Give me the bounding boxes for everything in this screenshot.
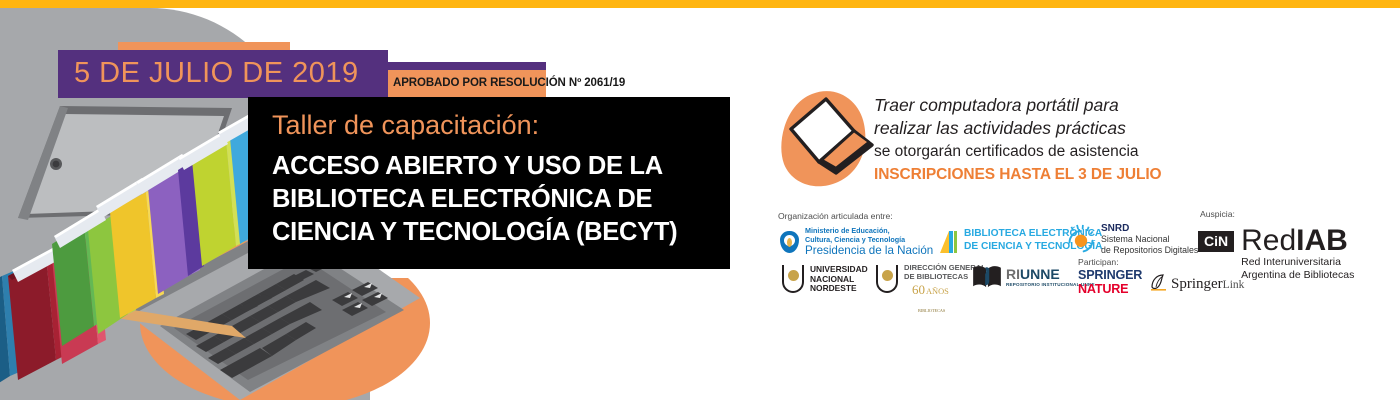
logo-springer-link: SpringerLink xyxy=(1150,274,1244,293)
snrd-line-1: Sistema Nacional xyxy=(1101,234,1198,245)
logo-unne: UNIVERSIDAD NACIONAL NORDESTE xyxy=(782,265,868,294)
laptop-icon xyxy=(776,88,882,196)
rediab-wordmark: RedIAB xyxy=(1241,225,1354,256)
snrd-mark-icon xyxy=(1066,224,1096,254)
title-line-3: CIENCIA Y TECNOLOGÍA (BECYT) xyxy=(272,216,722,249)
attendance-note-text: Traer computadora portátil para realizar… xyxy=(874,94,1194,187)
rediab-red: Red xyxy=(1241,224,1296,257)
argentina-shield-icon xyxy=(780,231,799,253)
snrd-acronym: SNRD xyxy=(1101,223,1198,234)
dgb-anniversary-word: AÑOS xyxy=(926,285,949,299)
right-content-column: Traer computadora portátil para realizar… xyxy=(772,0,1400,400)
title-kicker: Taller de capacitación: xyxy=(272,110,539,141)
unne-mark-icon xyxy=(782,265,804,293)
logo-rediab: CiN RedIAB Red Interuniversitaria Argent… xyxy=(1198,225,1354,281)
rediab-line-1: Red Interuniversitaria xyxy=(1241,256,1354,269)
rediab-iab: IAB xyxy=(1296,224,1348,257)
snrd-line-2: de Repositorios Digitales xyxy=(1101,245,1198,256)
note-line-3: se otorgarán certificados de asistencia xyxy=(874,140,1194,163)
title-line-2: BIBLIOTECA ELECTRÓNICA DE xyxy=(272,183,722,216)
cin-mark: CiN xyxy=(1198,231,1234,252)
logo-ministerio-educacion: Ministerio de Educación, Cultura, Cienci… xyxy=(780,227,933,257)
caption-auspicia: Auspicia: xyxy=(1200,209,1235,219)
logo-direccion-bibliotecas: DIRECCIÓN GENERAL DE BIBLIOTECAS 60 AÑOS… xyxy=(876,263,986,318)
riunne-unne: UNNE xyxy=(1020,266,1060,282)
dgb-mark-icon xyxy=(876,265,898,293)
resolution-badge-text: APROBADO POR RESOLUCIÓN Nº 2061/19 xyxy=(393,77,625,89)
page-title: ACCESO ABIERTO Y USO DE LA BIBLIOTECA EL… xyxy=(272,150,722,249)
attendance-note: Traer computadora portátil para realizar… xyxy=(772,88,1192,198)
springerlink-mark-icon xyxy=(1150,274,1167,293)
registration-deadline: INSCRIPCIONES HASTA EL 3 DE JULIO xyxy=(874,163,1194,187)
riunne-book-icon xyxy=(972,265,1002,289)
ministerio-line-2: Cultura, Ciencia y Tecnología xyxy=(805,236,933,245)
title-line-1: ACCESO ABIERTO Y USO DE LA xyxy=(272,150,722,183)
logo-riunne: RIUNNE REPOSITORIO INSTITUCIONAL UNNE xyxy=(972,265,1095,289)
ministerio-line-3: Presidencia de la Nación xyxy=(805,244,933,257)
riunne-ri: RI xyxy=(1006,266,1020,282)
unne-line-3: NORDESTE xyxy=(810,284,868,294)
caption-participan: Participan: xyxy=(1078,257,1119,267)
dgb-anniversary-sub: BIBLIOTECAS xyxy=(918,308,945,313)
logo-springer-nature: SPRINGER NATURE xyxy=(1078,269,1142,296)
springer-line-1: SPRINGER xyxy=(1078,269,1142,283)
note-line-1: Traer computadora portátil para xyxy=(874,94,1194,117)
caption-organizacion: Organización articulada entre: xyxy=(778,211,893,221)
springerlink-main: Springer xyxy=(1171,276,1223,292)
sponsor-logos: Organización articulada entre: Ministeri… xyxy=(772,205,1400,325)
springer-line-2: NATURE xyxy=(1078,283,1142,297)
note-line-2: realizar las actividades prácticas xyxy=(874,117,1194,140)
event-banner: 5 DE JULIO DE 2019 APROBADO POR RESOLUCI… xyxy=(0,0,1400,400)
rediab-line-2: Argentina de Bibliotecas xyxy=(1241,269,1354,282)
springerlink-sub: Link xyxy=(1223,279,1245,291)
becyt-mark-icon xyxy=(940,229,960,253)
logo-snrd: SNRD Sistema Nacional de Repositorios Di… xyxy=(1066,223,1198,255)
dgb-anniversary-number: 60 xyxy=(912,283,925,297)
date-badge-text: 5 DE JULIO DE 2019 xyxy=(74,57,359,90)
